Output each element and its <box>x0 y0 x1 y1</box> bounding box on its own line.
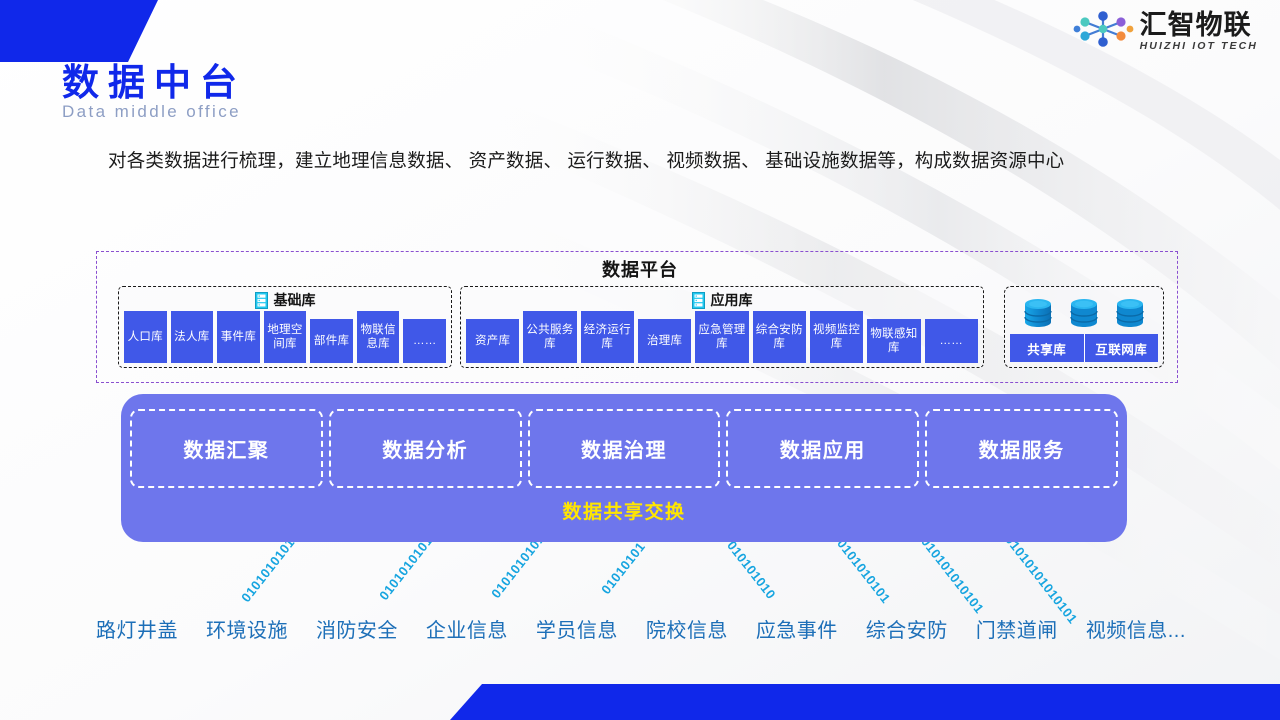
lib-chip[interactable]: 公共服务库 <box>523 311 576 363</box>
lib-chip[interactable]: 法人库 <box>171 311 214 363</box>
database-label-shared[interactable]: 共享库 <box>1010 334 1084 362</box>
molecule-network-icon <box>1072 10 1134 53</box>
database-cylinder-icon <box>1115 297 1145 329</box>
lib-chip[interactable]: 视频监控库 <box>810 311 863 363</box>
capability-card-row: 数据汇聚 数据分析 数据治理 数据应用 数据服务 <box>130 409 1118 488</box>
database-cylinder-icon <box>1069 297 1099 329</box>
database-label-row: 共享库 互联网库 <box>1010 334 1158 362</box>
server-rack-icon <box>255 292 268 309</box>
tag-item[interactable]: 环境设施 <box>206 614 288 643</box>
page-subtitle: Data middle office <box>62 102 246 122</box>
library-group-basic: 基础库 人口库 法人库 事件库 地理空间库 部件库 物联信息库 …… <box>118 286 452 368</box>
lib-chip[interactable]: 应急管理库 <box>695 311 748 363</box>
bottom-tag-row: 路灯井盖 环境设施 消防安全 企业信息 学员信息 院校信息 应急事件 综合安防 … <box>96 614 1186 643</box>
library-group-application: 应用库 资产库 公共服务库 经济运行库 治理库 应急管理库 综合安防库 视频监控… <box>460 286 984 368</box>
lib-chip[interactable]: 人口库 <box>124 311 167 363</box>
library-group-basic-label: 基础库 <box>274 290 316 310</box>
lib-chip[interactable]: …… <box>925 319 978 363</box>
brand-name-cn: 汇智物联 <box>1140 11 1252 39</box>
library-group-basic-header: 基础库 <box>119 290 451 310</box>
binary-string: 010101010 <box>724 538 779 602</box>
tag-item[interactable]: 消防安全 <box>316 614 398 643</box>
lib-chip[interactable]: 物联感知库 <box>867 319 920 363</box>
library-group-basic-chips: 人口库 法人库 事件库 地理空间库 部件库 物联信息库 …… <box>124 311 446 363</box>
database-icon-row <box>1005 291 1163 335</box>
library-group-application-chips: 资产库 公共服务库 经济运行库 治理库 应急管理库 综合安防库 视频监控库 物联… <box>466 311 978 363</box>
lib-chip[interactable]: 地理空间库 <box>264 311 307 363</box>
tag-item[interactable]: 路灯井盖 <box>96 614 178 643</box>
capability-caption: 数据共享交换 <box>121 497 1127 524</box>
lib-chip[interactable]: 资产库 <box>466 319 519 363</box>
capability-card[interactable]: 数据应用 <box>726 409 919 488</box>
capability-panel: 数据汇聚 数据分析 数据治理 数据应用 数据服务 数据共享交换 <box>121 394 1127 542</box>
server-rack-icon <box>692 292 705 309</box>
binary-string: 010101010101 <box>918 534 987 616</box>
capability-card[interactable]: 数据汇聚 <box>130 409 323 488</box>
binary-string: 01010101010101 <box>1002 532 1080 627</box>
lib-chip[interactable]: 综合安防库 <box>753 311 806 363</box>
binary-string: 0101010101 <box>834 536 893 606</box>
page-title: 数据中台 <box>62 62 246 103</box>
tag-item[interactable]: 学员信息 <box>536 614 618 643</box>
capability-card[interactable]: 数据服务 <box>925 409 1118 488</box>
lib-chip[interactable]: 物联信息库 <box>357 311 400 363</box>
tag-item[interactable]: 视频信息... <box>1086 614 1186 643</box>
lib-chip[interactable]: 经济运行库 <box>581 311 634 363</box>
lib-chip[interactable]: 治理库 <box>638 319 691 363</box>
intro-paragraph: 对各类数据进行梳理，建立地理信息数据、 资产数据、 运行数据、 视频数据、 基础… <box>108 138 1183 183</box>
title-block: 数据中台 Data middle office <box>62 62 246 122</box>
decor-bottom-right-banner <box>450 684 1280 720</box>
lib-chip[interactable]: 部件库 <box>310 319 353 363</box>
tag-item[interactable]: 综合安防 <box>866 614 948 643</box>
library-group-application-label: 应用库 <box>711 290 753 310</box>
data-platform-title: 数据平台 <box>0 256 1280 282</box>
lib-chip[interactable]: 事件库 <box>217 311 260 363</box>
brand-logo: 汇智物联 HUIZHI IOT TECH <box>1072 10 1258 53</box>
database-label-internet[interactable]: 互联网库 <box>1084 334 1159 362</box>
tag-item[interactable]: 应急事件 <box>756 614 838 643</box>
lib-chip[interactable]: …… <box>403 319 446 363</box>
capability-card[interactable]: 数据分析 <box>329 409 522 488</box>
tag-item[interactable]: 院校信息 <box>646 614 728 643</box>
library-group-application-header: 应用库 <box>461 290 983 310</box>
database-cylinder-icon <box>1023 297 1053 329</box>
capability-card[interactable]: 数据治理 <box>528 409 721 488</box>
brand-name-en: HUIZHI IOT TECH <box>1140 40 1258 52</box>
tag-item[interactable]: 企业信息 <box>426 614 508 643</box>
tag-item[interactable]: 门禁道闸 <box>976 614 1058 643</box>
binary-string: 01010101 <box>598 539 648 597</box>
database-group: 共享库 互联网库 <box>1004 286 1164 368</box>
